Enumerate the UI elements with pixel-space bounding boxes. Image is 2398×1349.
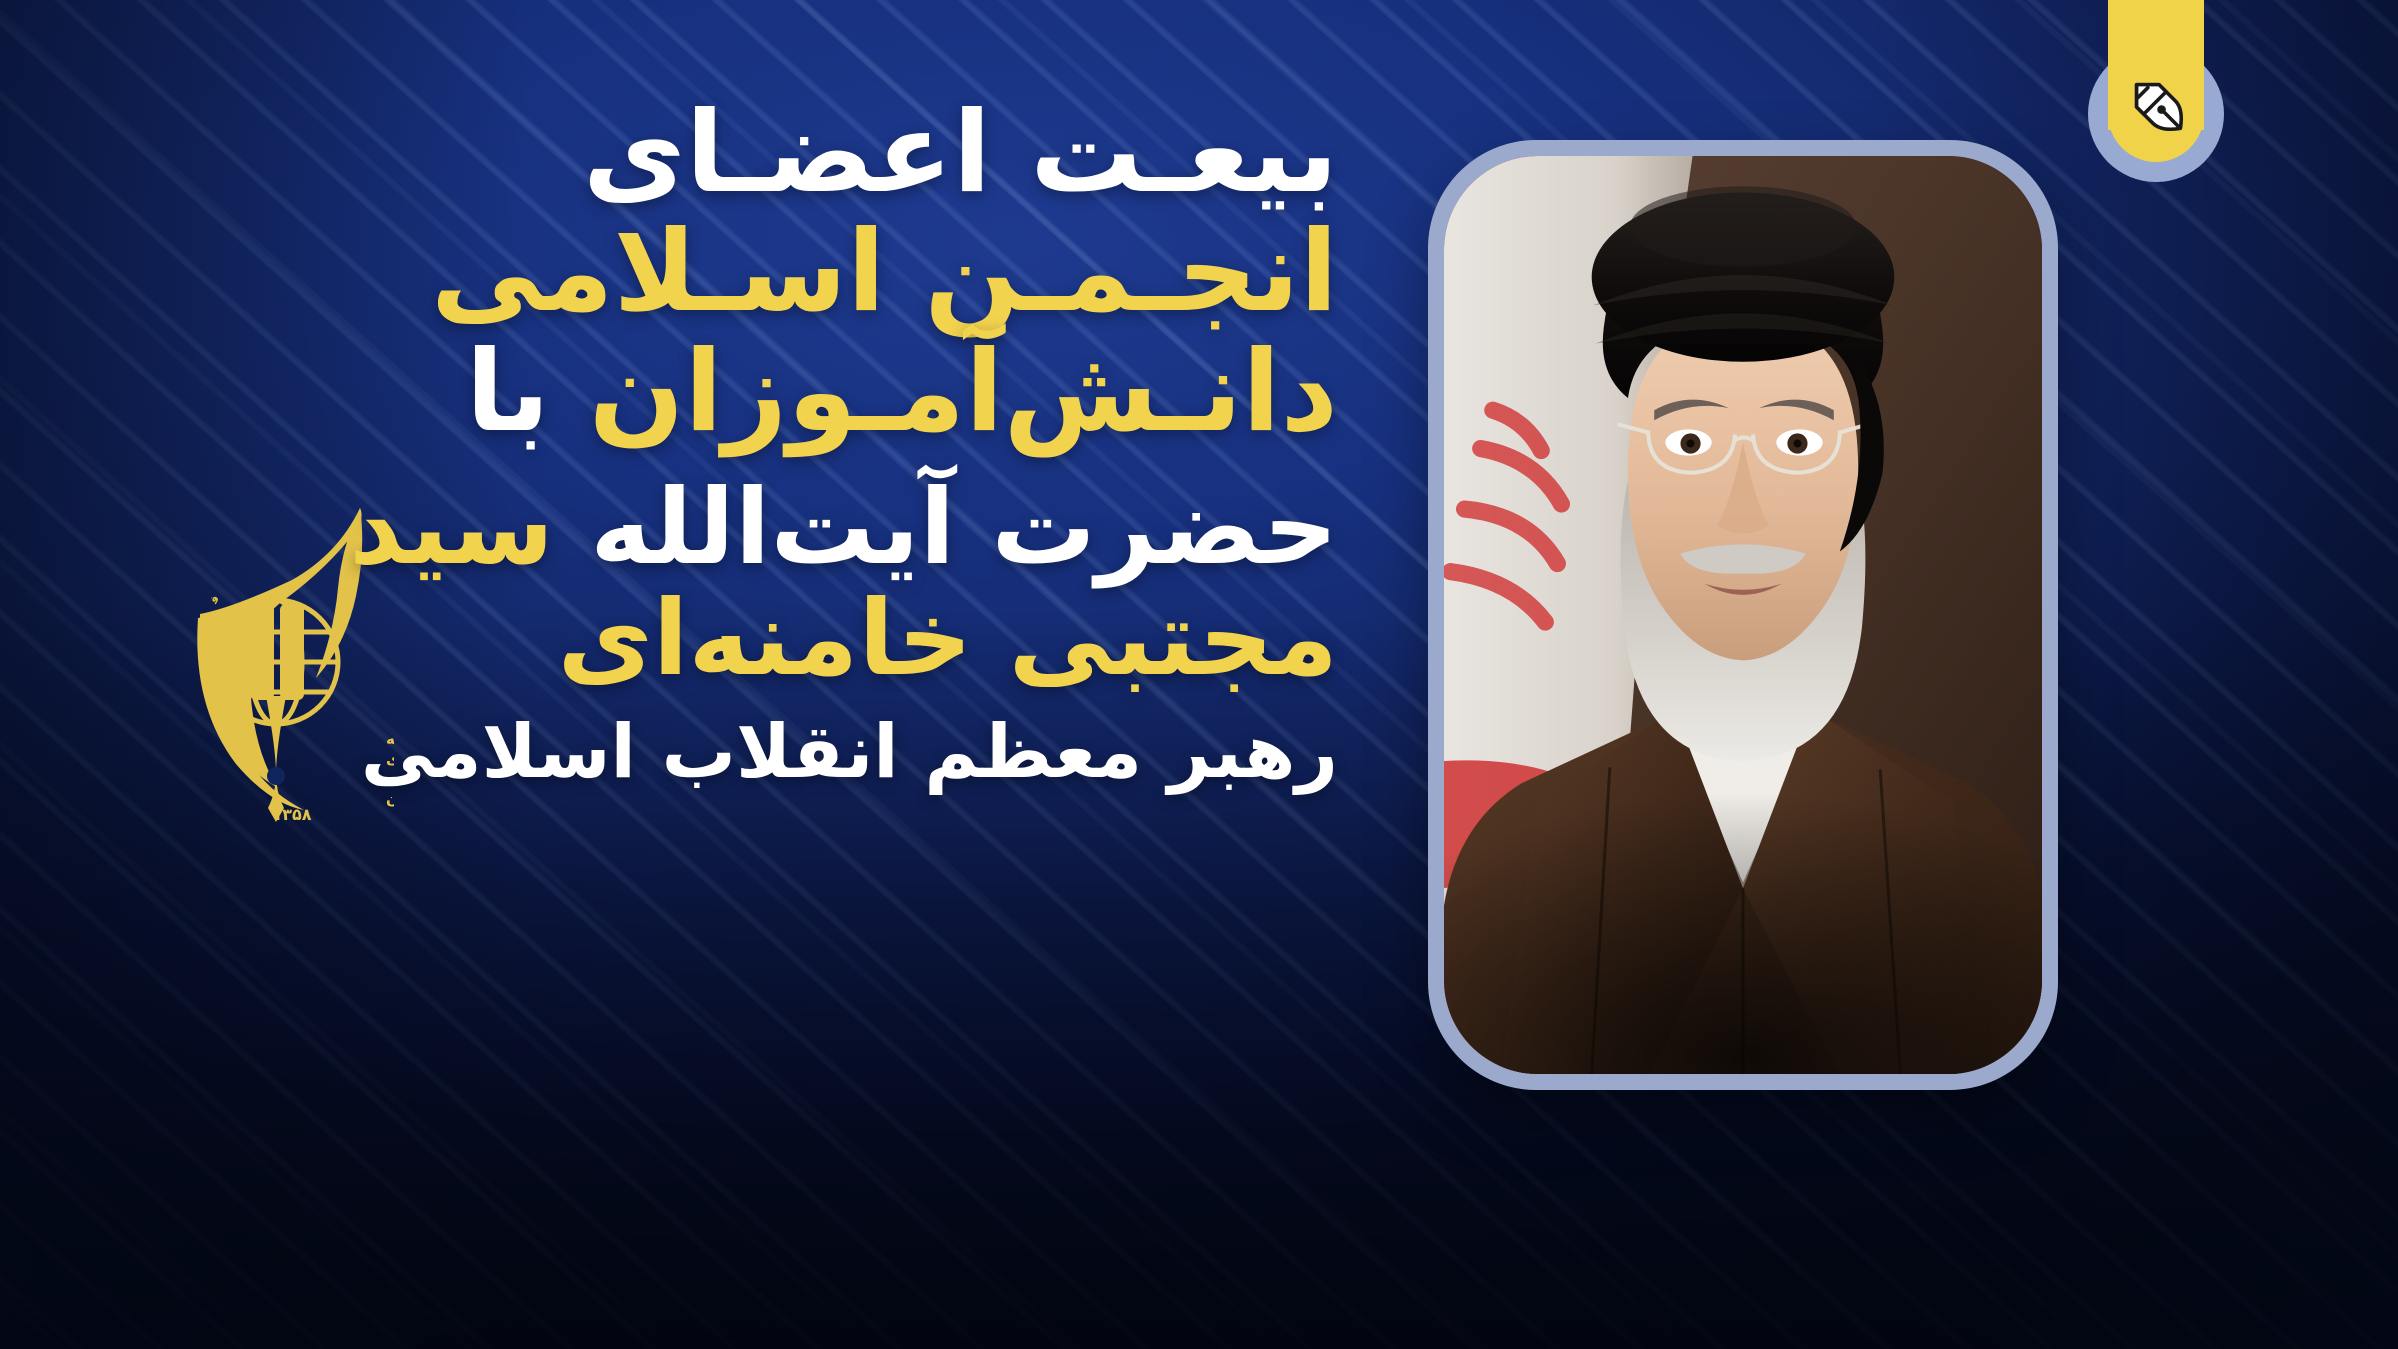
headline-line-3-white: با: [466, 327, 550, 457]
headline-line-4: حضرت آیت‌الله سید: [468, 474, 1338, 581]
headline-line-4-yellow: سید: [349, 466, 554, 588]
headline-line-3-yellow: دانـش‌آمـوزان: [589, 327, 1338, 457]
headline-line-2: انجـمـن اسـلامی: [468, 215, 1338, 330]
headline-line-5: مجتبی خامنه‌ای: [468, 585, 1338, 692]
headline-line-4-white: حضرت آیت‌الله: [590, 466, 1338, 588]
portrait-frame: [1428, 140, 2058, 1090]
headline-line-1: بیعـت اعضـای: [468, 96, 1338, 211]
headline-block: بیعـت اعضـای انجـمـن اسـلامی دانـش‌آمـوز…: [468, 96, 1338, 791]
pen-nib-icon: [2122, 70, 2194, 142]
pen-tab-badge[interactable]: [2100, 0, 2212, 172]
poster-canvas: فیزکیهم و یعلمهم الکتاب و الحکمة اتحادیه…: [0, 0, 2398, 1349]
portrait-illustration: [1444, 156, 2042, 1074]
logo-year: ۱۳۵۸: [272, 805, 311, 822]
svg-text:فیزکیهم و یعلمهم الکتاب و الحک: فیزکیهم و یعلمهم الکتاب و الحکمة: [188, 492, 222, 606]
logo-arc-text: فیزکیهم و یعلمهم الکتاب و الحکمة: [188, 492, 222, 606]
portrait-card: [1428, 140, 2058, 1090]
headline-subtitle: رهبر معظم انقلاب اسلامی: [468, 714, 1338, 790]
headline-line-3: دانـش‌آمـوزان با: [468, 335, 1338, 450]
portrait-image: [1444, 156, 2042, 1074]
